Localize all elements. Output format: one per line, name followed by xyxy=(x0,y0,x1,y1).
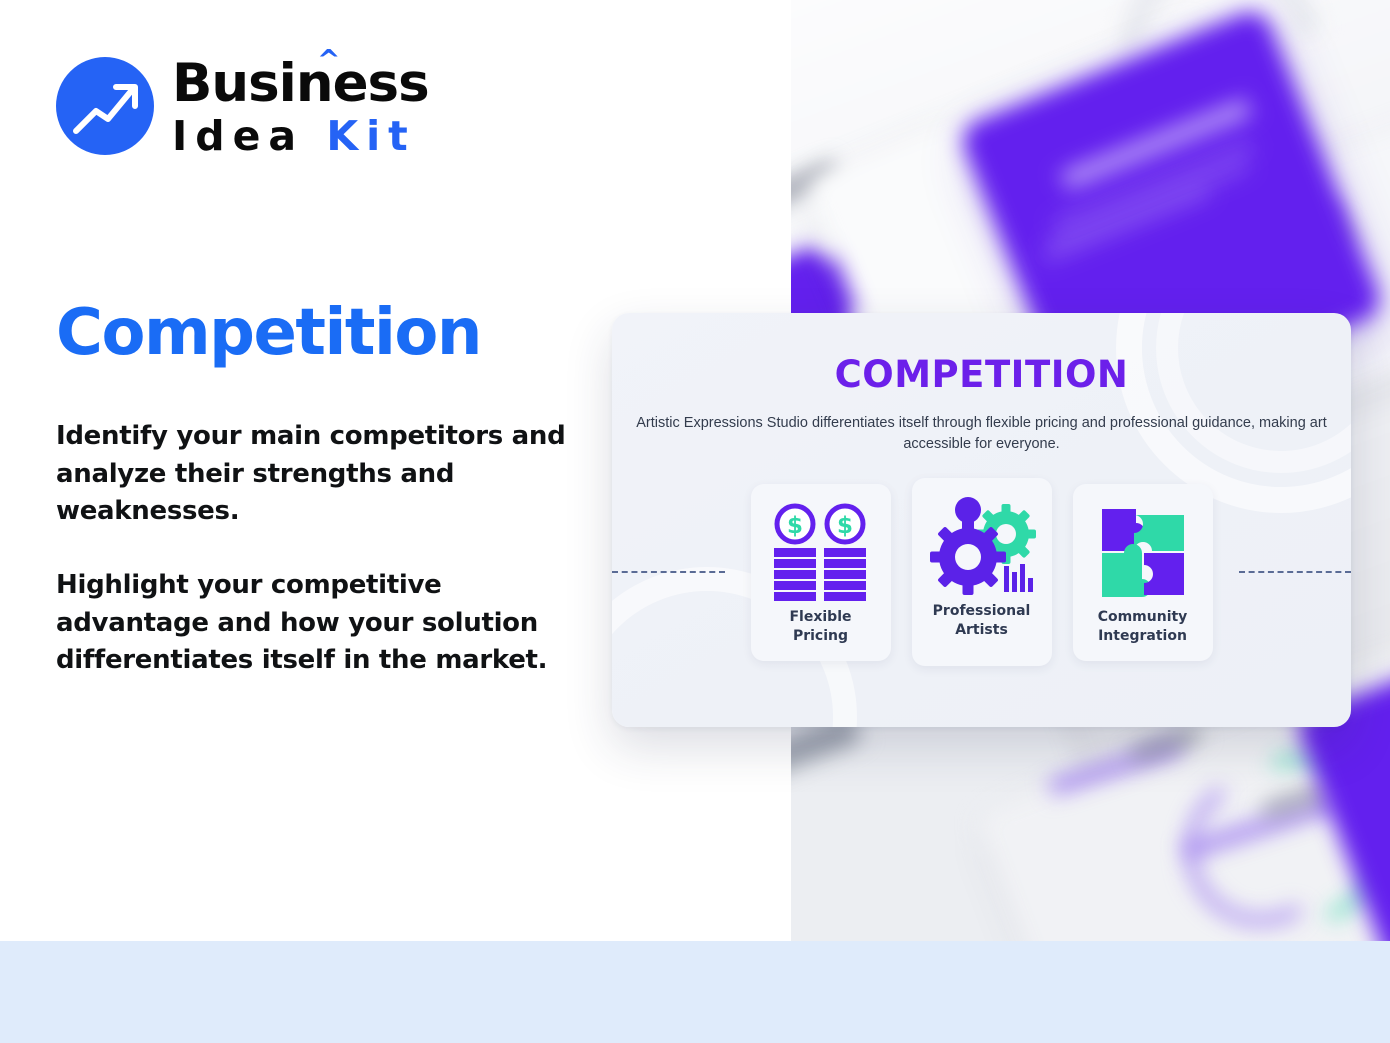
connector-line-left xyxy=(612,571,725,573)
feature-label-line2: Pricing xyxy=(793,628,848,644)
bottom-accent-strip xyxy=(0,941,1390,1043)
page-title: Competition xyxy=(56,296,481,370)
feature-label-line1: Flexible xyxy=(789,609,851,625)
competition-slide-card[interactable]: COMPETITION Artistic Expressions Studio … xyxy=(612,313,1351,727)
body-paragraph-2: Highlight your competitive advantage and… xyxy=(56,567,586,680)
feature-card-flexible-pricing[interactable]: $ $ Flexible Pricing xyxy=(751,484,891,661)
brand-subname-text: Idea xyxy=(172,112,304,160)
connector-line-right xyxy=(1239,571,1351,573)
puzzle-pieces-icon xyxy=(1096,500,1190,604)
feature-label-line2: Integration xyxy=(1098,628,1187,644)
body-copy: Identify your main competitors and analy… xyxy=(56,418,586,680)
feature-card-professional-artists[interactable]: Professional Artists xyxy=(912,478,1052,666)
feature-label-community-integration: Community Integration xyxy=(1098,608,1188,646)
card-title: COMPETITION xyxy=(612,353,1351,396)
brand-name-line1: Business ^ xyxy=(172,57,429,110)
feature-label-line1: Professional xyxy=(933,603,1031,619)
feature-card-community-integration[interactable]: Community Integration xyxy=(1073,484,1213,661)
coin-stacks-icon: $ $ xyxy=(769,500,873,604)
feature-label-professional-artists: Professional Artists xyxy=(933,602,1031,640)
body-paragraph-1: Identify your main competitors and analy… xyxy=(56,418,586,531)
feature-row: $ $ Flexible Pricing xyxy=(612,478,1351,666)
feature-label-flexible-pricing: Flexible Pricing xyxy=(789,608,851,646)
feature-label-line2: Artists xyxy=(955,622,1008,638)
feature-label-line1: Community xyxy=(1098,609,1188,625)
brand-name-line2: Idea Kit xyxy=(172,116,429,157)
svg-text:$: $ xyxy=(836,513,852,539)
brand-logo[interactable]: Business ^ Idea Kit xyxy=(56,55,429,157)
growth-arrow-icon xyxy=(56,57,154,155)
svg-text:$: $ xyxy=(786,513,802,539)
card-subtitle: Artistic Expressions Studio differentiat… xyxy=(612,413,1351,454)
brand-name-text: Business xyxy=(172,53,429,114)
gears-lightbulb-icon xyxy=(928,494,1036,598)
slide-page: Business ^ Idea Kit Competition Identify… xyxy=(0,0,1390,1043)
brand-kit-text: Kit xyxy=(326,112,415,160)
brand-accent-caret-icon: ^ xyxy=(317,46,339,74)
